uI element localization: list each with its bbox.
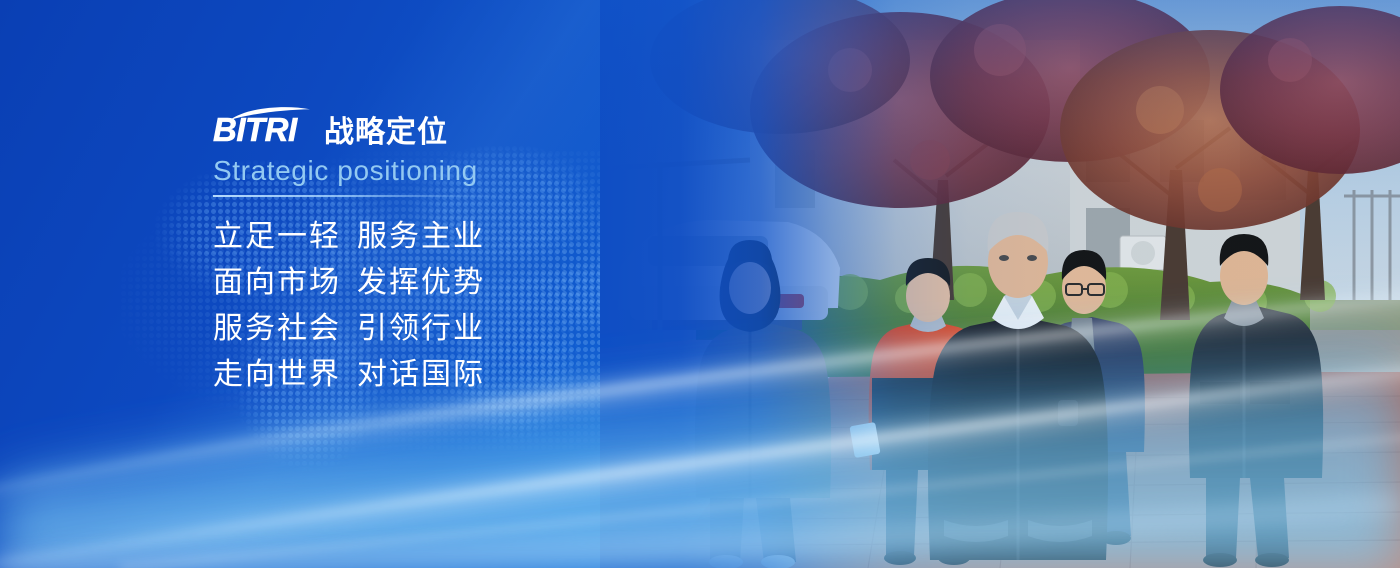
slogan-line: 立足一轻 服务主业 — [213, 215, 773, 259]
banner-subtitle-en: Strategic positioning — [213, 154, 773, 188]
slogan-line: 走向世界 对话国际 — [213, 353, 773, 397]
banner-title-cn: 战略定位 — [324, 116, 448, 150]
strategic-positioning-banner: BITRI 战略定位 Strategic positioning 立足一轻 服务… — [0, 0, 1400, 568]
slogan-right: 服务主业 — [357, 215, 485, 259]
slogan-right: 发挥优势 — [357, 261, 485, 305]
bitri-logo: BITRI — [213, 106, 310, 148]
slogan-right: 对话国际 — [357, 353, 485, 397]
brand-row: BITRI 战略定位 — [213, 104, 773, 148]
slogan-left: 服务社会 — [213, 307, 357, 351]
title-divider — [213, 195, 503, 197]
slogan-right: 引领行业 — [357, 307, 485, 351]
slogan-left: 走向世界 — [213, 353, 357, 397]
slogan-line: 服务社会 引领行业 — [213, 307, 773, 351]
slogan-left: 面向市场 — [213, 261, 357, 305]
slogan-left: 立足一轻 — [213, 215, 357, 259]
slogan-list: 立足一轻 服务主业 面向市场 发挥优势 服务社会 引领行业 走向世界 对话国际 — [213, 215, 773, 397]
slogan-line: 面向市场 发挥优势 — [213, 261, 773, 305]
headline-block: BITRI 战略定位 Strategic positioning 立足一轻 服务… — [213, 104, 773, 399]
bitri-logo-text: BITRI — [213, 112, 297, 148]
